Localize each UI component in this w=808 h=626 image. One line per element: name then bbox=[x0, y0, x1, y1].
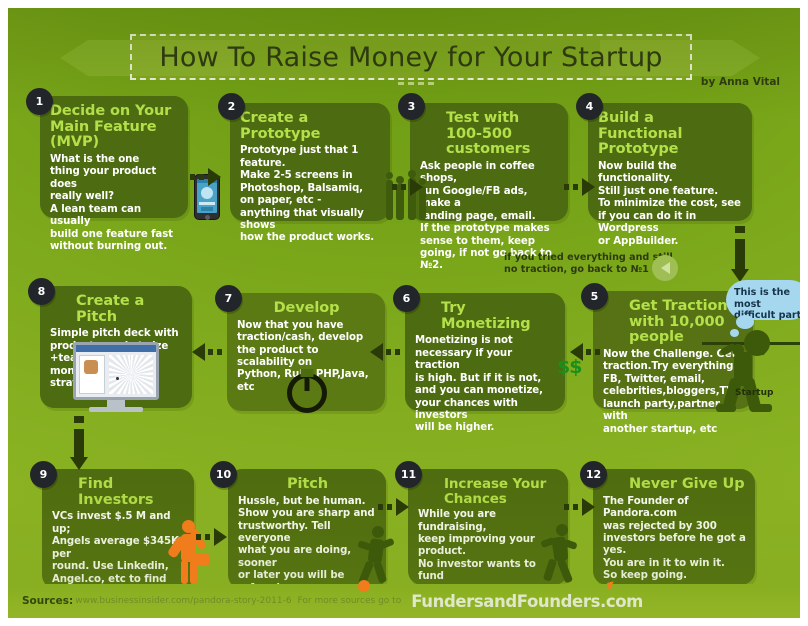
weightlifter-illustration bbox=[708, 326, 800, 418]
more-sources-text: For more sources go to bbox=[298, 596, 402, 606]
step-badge-12: 12 bbox=[580, 461, 607, 488]
monitor-illustration bbox=[73, 342, 159, 412]
step-title-11: Increase Your Chances bbox=[418, 477, 559, 506]
loop-back-note: if you tried everything and still no tra… bbox=[504, 252, 673, 277]
monitor-right-pane bbox=[109, 355, 153, 394]
step-card-7[interactable]: Develop Now that you have traction/cash,… bbox=[227, 293, 385, 411]
step-title-4: Build a Functional Prototype bbox=[598, 111, 743, 158]
footer-bar: Sources: www.businessinsider.com/pandora… bbox=[8, 584, 800, 618]
monitor-screen bbox=[73, 342, 159, 400]
weightlifter-label: Startup bbox=[735, 388, 773, 398]
title-banner: How To Raise Money for Your Startup bbox=[60, 34, 760, 80]
phone-line-1 bbox=[199, 202, 215, 205]
phone-line-2 bbox=[201, 207, 213, 211]
step-badge-8: 8 bbox=[28, 278, 55, 305]
step-badge-11: 11 bbox=[395, 461, 422, 488]
source-url-link[interactable]: www.businessinsider.com/pandora-story-20… bbox=[75, 596, 291, 606]
runner-illustration-1 bbox=[352, 526, 398, 588]
step-badge-10: 10 bbox=[210, 461, 237, 488]
step-title-12: Never Give Up bbox=[603, 477, 746, 493]
infographic-canvas: How To Raise Money for Your Startup by A… bbox=[8, 8, 800, 618]
speech-bubble: This is the most difficult part bbox=[726, 280, 800, 320]
infographic-root: How To Raise Money for Your Startup by A… bbox=[0, 0, 808, 626]
step-title-10: Pitch bbox=[238, 477, 377, 493]
step-badge-9: 9 bbox=[30, 461, 57, 488]
speech-bubble-text: This is the most difficult part bbox=[734, 287, 800, 322]
runner-illustration-2 bbox=[536, 524, 582, 586]
step-badge-6: 6 bbox=[393, 285, 420, 312]
step-title-9: Find Investors bbox=[52, 477, 185, 508]
step-card-6[interactable]: Try Monetizing Monetizing is not necessa… bbox=[405, 293, 565, 411]
monitor-base bbox=[89, 407, 143, 412]
brand-link[interactable]: FundersandFounders.com bbox=[411, 592, 643, 611]
title-dash-accent bbox=[398, 82, 434, 85]
step-badge-2: 2 bbox=[218, 93, 245, 120]
monitor-topbar bbox=[76, 345, 156, 352]
globe-icon bbox=[201, 187, 213, 199]
step-badge-4: 4 bbox=[576, 93, 603, 120]
step-card-8[interactable]: Create a Pitch Simple pitch deck with pr… bbox=[40, 286, 192, 408]
step-title-2: Create a Prototype bbox=[240, 111, 381, 142]
monitor-neck bbox=[107, 400, 125, 407]
phone-home-button bbox=[205, 215, 210, 220]
step-body-2: Prototype just that 1 feature. Make 2-5 … bbox=[240, 145, 381, 245]
step-card-2[interactable]: Create a Prototype Prototype just that 1… bbox=[230, 103, 390, 221]
step-title-7: Develop bbox=[237, 301, 376, 317]
step-body-6: Monetizing is not necessary if your trac… bbox=[415, 335, 556, 435]
businessman-illustration bbox=[168, 520, 210, 586]
step-card-4[interactable]: Build a Functional Prototype Now build t… bbox=[588, 103, 752, 221]
title-plate: How To Raise Money for Your Startup bbox=[130, 34, 692, 80]
ball-icon bbox=[358, 580, 370, 592]
step-title-6: Try Monetizing bbox=[415, 301, 556, 332]
step-badge-1: 1 bbox=[26, 88, 53, 115]
loop-back-circle-arrow-icon bbox=[652, 255, 678, 281]
step-card-12[interactable]: Never Give Up The Founder of Pandora.com… bbox=[593, 469, 755, 585]
step-badge-3: 3 bbox=[398, 93, 425, 120]
step-badge-7: 7 bbox=[215, 285, 242, 312]
step-badge-5: 5 bbox=[581, 283, 608, 310]
step-card-3[interactable]: Test with 100-500 customers Ask people i… bbox=[410, 103, 568, 221]
avatar bbox=[84, 360, 98, 374]
power-icon bbox=[287, 373, 327, 413]
page-title: How To Raise Money for Your Startup bbox=[159, 42, 662, 73]
byline: by Anna Vital bbox=[701, 76, 780, 88]
step-body-12: The Founder of Pandora.com was rejected … bbox=[603, 496, 746, 583]
step-card-1[interactable]: Decide on Your Main Feature (MVP) What i… bbox=[40, 96, 188, 218]
step-title-8: Create a Pitch bbox=[50, 294, 183, 325]
step-body-1: What is the one thing your product does … bbox=[50, 154, 179, 254]
step-title-1: Decide on Your Main Feature (MVP) bbox=[50, 104, 179, 151]
step-body-4: Now build the functionality. Still just … bbox=[598, 161, 743, 248]
sources-label: Sources: bbox=[22, 595, 73, 607]
step-title-3: Test with 100-500 customers bbox=[420, 111, 559, 158]
